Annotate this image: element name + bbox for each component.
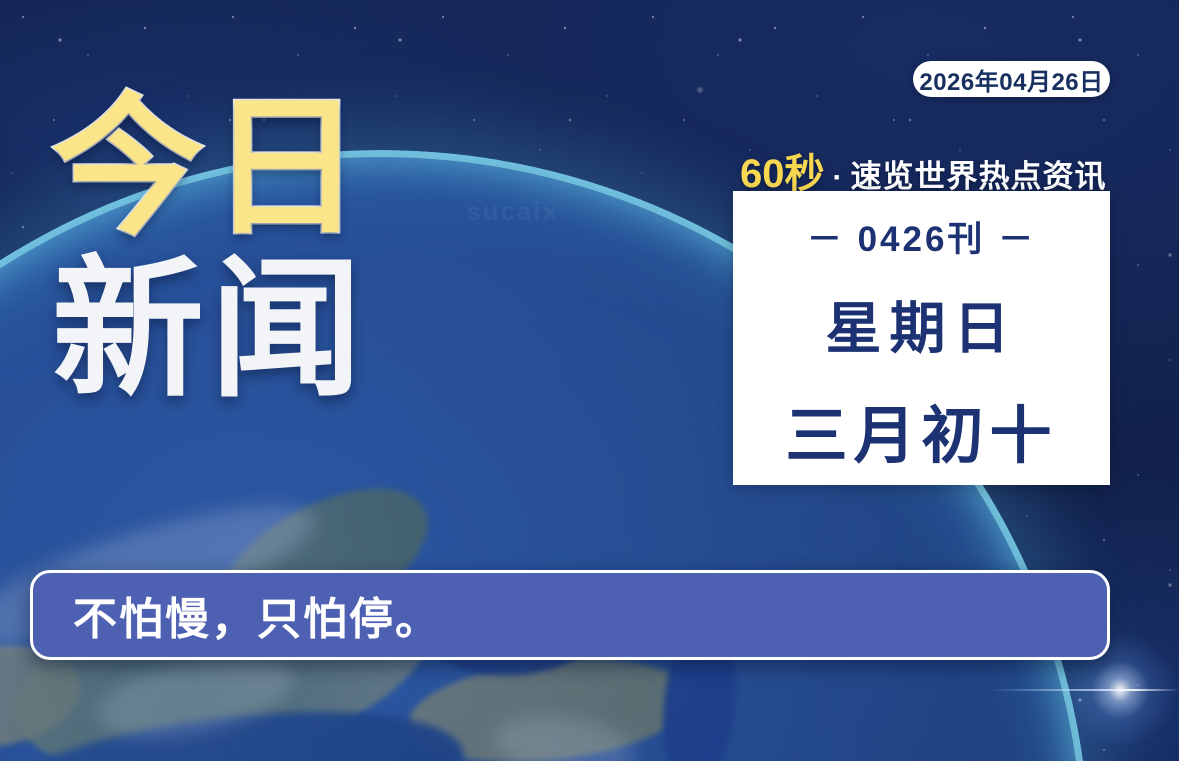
headline-line-news: 新闻 (52, 258, 472, 404)
tagline-separator-dot: · (829, 161, 847, 195)
news-poster: sucaix 今日 新闻 2026年04月26日 60秒 · 速览世界热点资讯 … (0, 0, 1179, 761)
info-card: － 0426刊 － 星期日 三月初十 (733, 191, 1110, 485)
headline-line-today: 今日 (52, 96, 472, 242)
headline-block: 今日 新闻 (52, 96, 472, 404)
background-watermark: sucaix (466, 196, 559, 227)
weekday-label: 星期日 (826, 284, 1018, 365)
issue-number: － 0426刊 － (807, 211, 1036, 262)
lunar-date-label: 三月初十 (785, 385, 1057, 475)
tagline-description: 速览世界热点资讯 (851, 151, 1107, 196)
quote-text: 不怕慢，只怕停。 (73, 583, 441, 647)
date-badge: 2026年04月26日 (913, 61, 1110, 97)
quote-bar: 不怕慢，只怕停。 (30, 570, 1110, 660)
